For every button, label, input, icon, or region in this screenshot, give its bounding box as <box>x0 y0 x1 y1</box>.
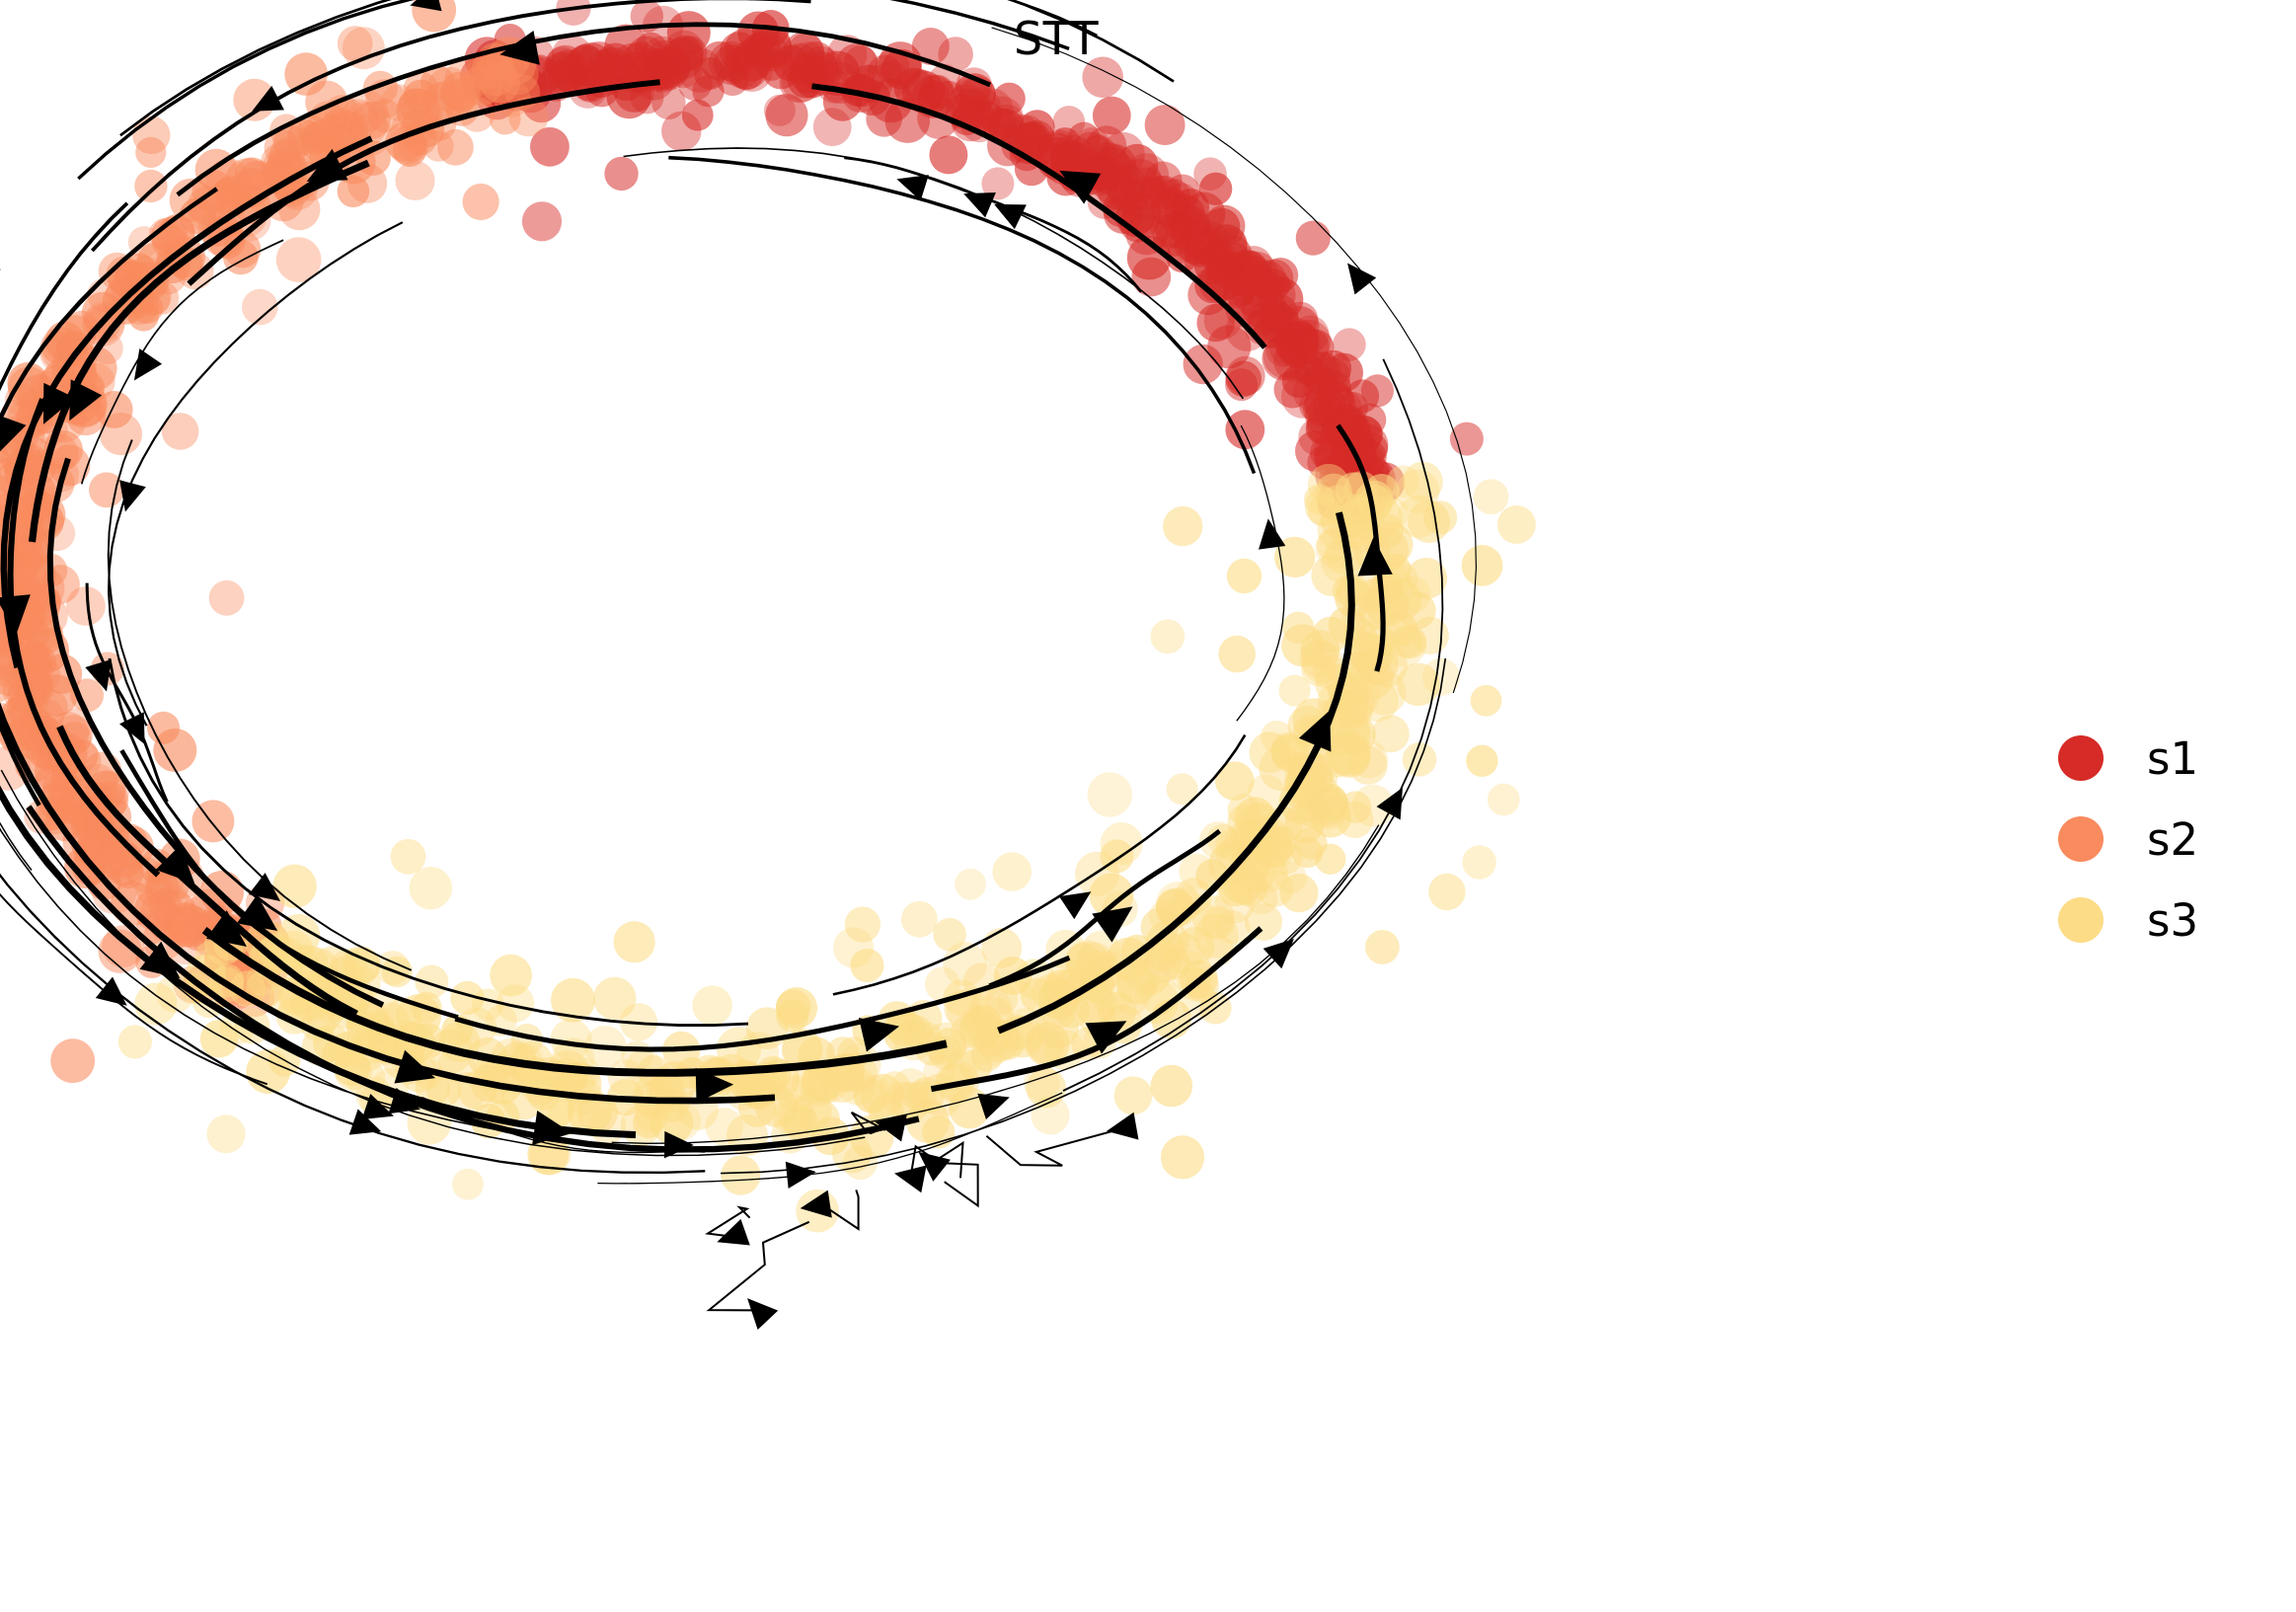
legend-item-s3[interactable]: s3 <box>2058 897 2198 943</box>
scatter-point <box>209 580 245 616</box>
streamline-arrow-icon <box>786 1158 817 1189</box>
scatter-point <box>134 170 167 202</box>
scatter-point <box>1471 685 1502 717</box>
scatter-point <box>1151 208 1192 250</box>
scatter-point <box>443 79 475 111</box>
circle-marker-icon <box>2058 897 2104 943</box>
streamline-arrow-icon <box>713 1219 750 1256</box>
scatter-point <box>993 83 1026 115</box>
streamline-arrow-icon <box>737 1288 778 1330</box>
streamline-arrow-icon <box>1105 1113 1139 1145</box>
scatter-point <box>947 1047 980 1081</box>
scatter-point <box>955 869 986 900</box>
legend-item-label: s3 <box>2147 898 2198 943</box>
scatter-point <box>692 985 732 1026</box>
scatter-streamline-plot <box>0 0 2296 1612</box>
scatter-point <box>1307 786 1349 828</box>
scatter-point <box>452 1169 484 1200</box>
scatter-point <box>1303 390 1340 427</box>
scatter-point <box>880 1071 911 1103</box>
scatter-point <box>1428 874 1465 910</box>
scatter-point <box>1372 715 1410 752</box>
scatter-point <box>981 928 1022 968</box>
scatter-point <box>381 84 419 121</box>
scatter-point <box>1279 874 1318 912</box>
scatter-point <box>1101 822 1143 865</box>
scatter-point <box>1450 422 1484 456</box>
scatter-point <box>1114 1076 1153 1114</box>
scatter-point <box>410 867 452 909</box>
scatter-point <box>1145 105 1186 145</box>
scatter-point <box>1300 640 1339 678</box>
scatter-point <box>1203 205 1246 248</box>
legend: s1 s2 s3 <box>2058 735 2198 943</box>
scatter-point <box>622 1040 653 1072</box>
scatter-point <box>1144 162 1182 199</box>
scatter-point <box>1397 663 1440 707</box>
streamline-arrow-icon <box>1255 517 1285 550</box>
scatter-point <box>788 33 823 68</box>
scatter-points-layer <box>0 0 1536 1232</box>
scatter-point <box>522 201 562 241</box>
scatter-point <box>929 135 967 174</box>
scatter-point <box>694 57 727 90</box>
streamline-arrow-icon <box>123 348 163 388</box>
scatter-point <box>463 184 499 220</box>
scatter-point <box>1403 742 1437 777</box>
scatter-point <box>209 181 242 213</box>
scatter-point <box>833 927 874 967</box>
scatter-point <box>1218 636 1256 673</box>
scatter-point <box>395 161 434 200</box>
scatter-point <box>206 1114 245 1153</box>
scatter-point <box>776 1000 808 1033</box>
scatter-point <box>1308 464 1349 505</box>
scatter-point <box>1258 269 1290 301</box>
scatter-point <box>933 918 966 952</box>
scatter-point <box>1365 930 1400 964</box>
scatter-point <box>1199 173 1232 205</box>
scatter-point <box>472 988 504 1021</box>
scatter-point <box>1462 545 1503 586</box>
streamline-arrow-icon <box>891 1160 926 1192</box>
legend-item-s2[interactable]: s2 <box>2058 816 2198 862</box>
scatter-point <box>721 1156 760 1195</box>
scatter-point <box>1357 433 1388 464</box>
legend-item-s1[interactable]: s1 <box>2058 735 2198 781</box>
scatter-point <box>1225 410 1264 449</box>
scatter-point <box>1226 356 1265 396</box>
scatter-point <box>1282 612 1314 644</box>
scatter-point <box>901 901 938 938</box>
circle-marker-icon <box>2058 816 2104 862</box>
scatter-point <box>1474 479 1509 514</box>
scatter-point <box>1361 374 1394 407</box>
scatter-point <box>1088 772 1132 816</box>
scatter-point <box>1399 592 1436 630</box>
scatter-point <box>1488 784 1520 816</box>
scatter-point <box>1227 559 1262 593</box>
figure-canvas: STT s1 s2 s3 <box>0 0 2296 1612</box>
scatter-point <box>1296 221 1331 256</box>
scatter-point <box>1283 302 1318 337</box>
scatter-point <box>764 95 796 126</box>
scatter-point <box>556 0 590 26</box>
streamline-arrow-icon <box>1337 255 1376 294</box>
scatter-point <box>1466 745 1497 777</box>
scatter-point <box>1163 506 1202 546</box>
scatter-point <box>1035 132 1080 177</box>
scatter-point <box>1150 619 1185 653</box>
legend-item-label: s2 <box>2147 817 2198 862</box>
scatter-point <box>1151 1065 1193 1108</box>
scatter-point <box>604 157 638 191</box>
scatter-point <box>992 852 1032 891</box>
circle-marker-icon <box>2058 735 2104 781</box>
scatter-point <box>1462 845 1496 880</box>
scatter-point <box>1161 1135 1204 1179</box>
scatter-point <box>1497 505 1536 544</box>
scatter-point <box>27 657 61 692</box>
scatter-point <box>951 1016 983 1048</box>
scatter-point <box>272 865 316 908</box>
scatter-point <box>835 43 879 87</box>
scatter-point <box>661 112 701 151</box>
scatter-point <box>50 1038 95 1083</box>
legend-item-label: s1 <box>2147 736 2198 781</box>
scatter-point <box>437 129 474 166</box>
scatter-point <box>777 1099 810 1132</box>
scatter-point <box>177 252 214 289</box>
scatter-point <box>118 1025 152 1058</box>
scatter-point <box>1295 354 1327 386</box>
scatter-point <box>391 839 426 875</box>
scatter-point <box>614 921 655 962</box>
